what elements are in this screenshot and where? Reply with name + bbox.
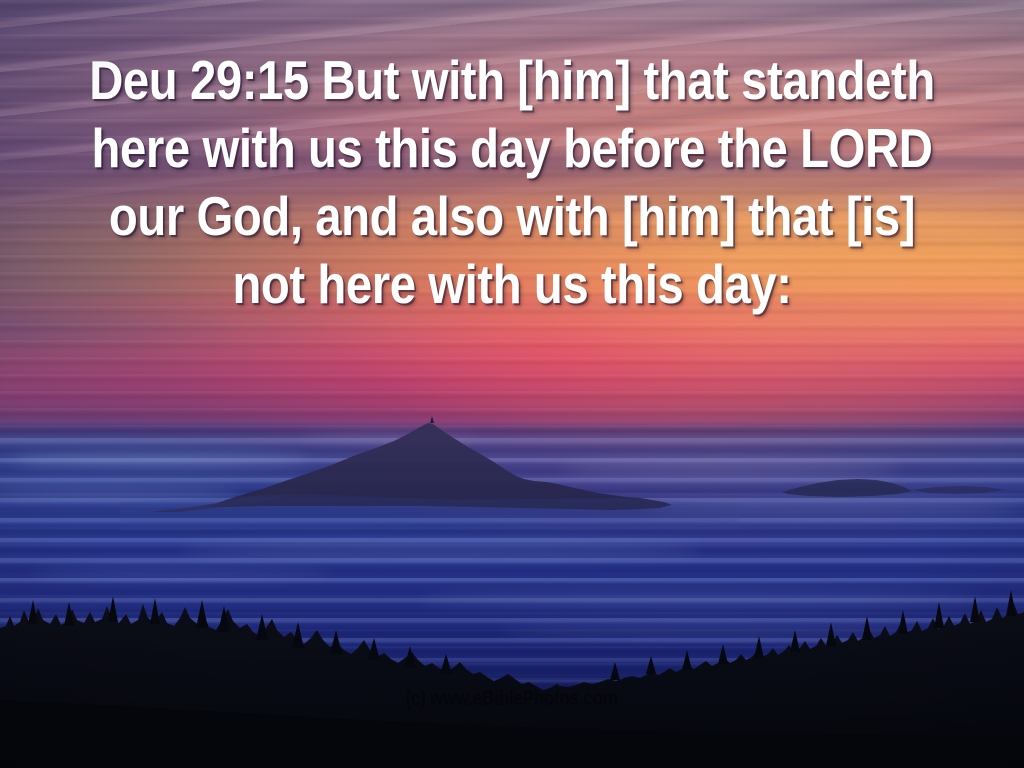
verse-line-3: our God, and also with [him] that [is]: [72, 182, 953, 250]
verse-text-block: Deu 29:15 But with [him] that standeth h…: [0, 46, 1024, 318]
verse-line-4: not here with us this day:: [72, 250, 953, 318]
watermark: (c) www.eBiblePhotos.com: [0, 688, 1024, 710]
verse-photo-canvas: Deu 29:15 But with [him] that standeth h…: [0, 0, 1024, 768]
watermark-text: (c) www.eBiblePhotos.com: [406, 688, 619, 709]
verse-line-1: Deu 29:15 But with [him] that standeth: [72, 46, 953, 114]
verse-line-2: here with us this day before the LORD: [72, 114, 953, 182]
